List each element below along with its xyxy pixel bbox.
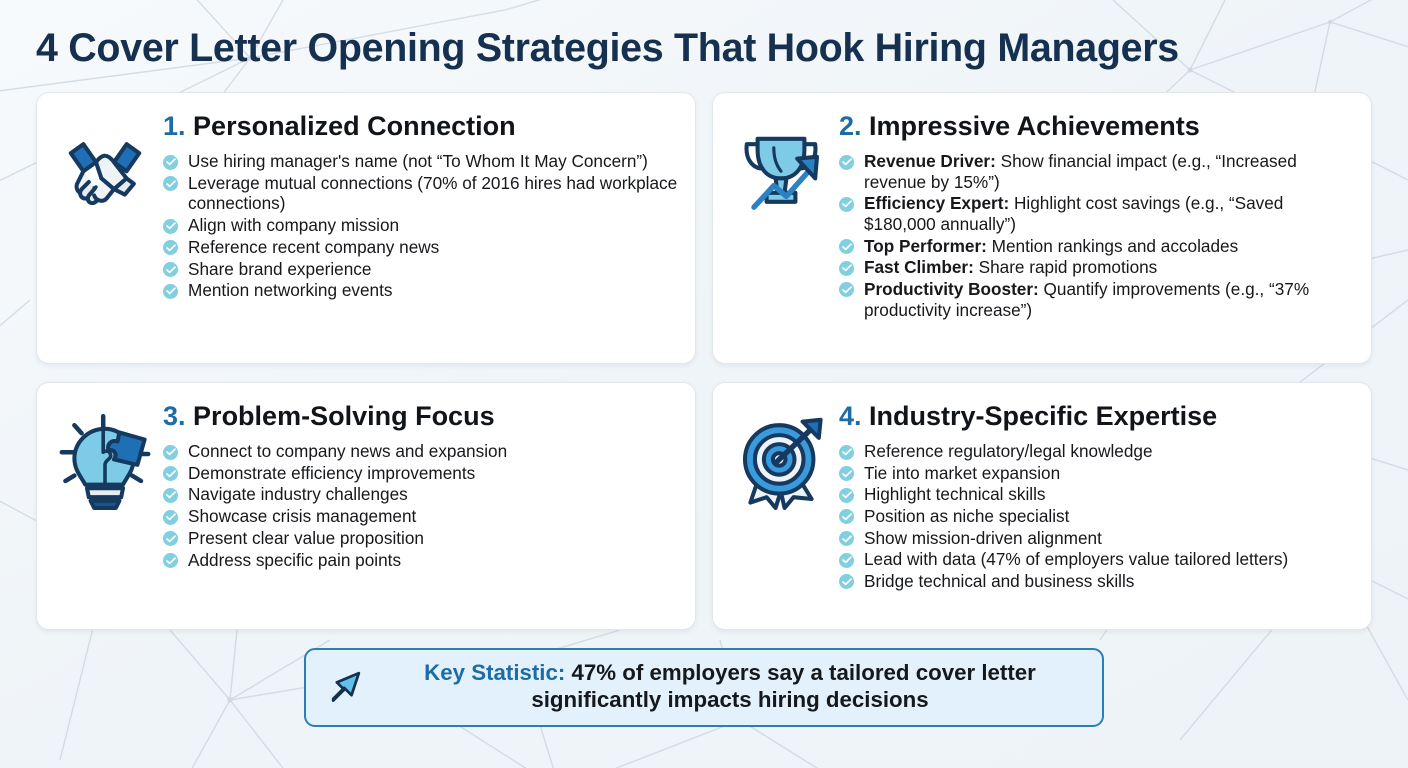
card-title: Problem-Solving Focus (193, 401, 495, 431)
check-icon (839, 197, 854, 212)
list-item-text: Present clear value proposition (188, 528, 424, 548)
check-icon (163, 176, 178, 191)
bullet-list: Reference regulatory/legal knowledge Tie… (839, 441, 1355, 591)
key-statistic-label: Key Statistic: (424, 660, 565, 685)
list-item: Position as niche specialist (839, 506, 1355, 527)
arrow-up-right-icon (324, 664, 368, 708)
list-item: Reference regulatory/legal knowledge (839, 441, 1355, 462)
card-heading: 4. Industry-Specific Expertise (839, 401, 1355, 432)
card-body: 1. Personalized Connection Use hiring ma… (163, 107, 679, 302)
list-item: Demonstrate efficiency improvements (163, 463, 679, 484)
check-icon (839, 261, 854, 276)
list-item: Efficiency Expert: Highlight cost saving… (839, 193, 1355, 234)
target-arrow-icon (727, 409, 835, 517)
list-item-text: Demonstrate efficiency improvements (188, 463, 475, 483)
check-icon (163, 466, 178, 481)
list-item: Top Performer: Mention rankings and acco… (839, 236, 1355, 257)
list-item-text: Address specific pain points (188, 550, 401, 570)
check-icon (163, 240, 178, 255)
list-item-text: Bridge technical and business skills (864, 571, 1134, 591)
check-icon (163, 155, 178, 170)
handshake-icon (51, 119, 159, 227)
list-item-label: Productivity Booster: (864, 279, 1039, 299)
list-item-text: Connect to company news and expansion (188, 441, 507, 461)
list-item-text: Share brand experience (188, 259, 371, 279)
check-icon (839, 466, 854, 481)
list-item: Use hiring manager's name (not “To Whom … (163, 151, 679, 172)
check-icon (163, 284, 178, 299)
card-number: 2. (839, 111, 862, 141)
check-icon (163, 553, 178, 568)
trophy-growth-icon (727, 119, 835, 227)
card-title: Industry-Specific Expertise (869, 401, 1217, 431)
card-body: 2. Impressive Achievements Revenue Drive… (839, 107, 1355, 321)
card-heading: 3. Problem-Solving Focus (163, 401, 679, 432)
card-heading: 2. Impressive Achievements (839, 111, 1355, 142)
list-item-text: Tie into market expansion (864, 463, 1060, 483)
list-item: Navigate industry challenges (163, 484, 679, 505)
list-item: Leverage mutual connections (70% of 2016… (163, 173, 679, 214)
list-item-text: Show mission-driven alignment (864, 528, 1102, 548)
strategy-card-3: 3. Problem-Solving Focus Connect to comp… (36, 382, 696, 630)
check-icon (839, 445, 854, 460)
check-icon (163, 219, 178, 234)
list-item: Connect to company news and expansion (163, 441, 679, 462)
list-item-text: Showcase crisis management (188, 506, 416, 526)
card-title: Personalized Connection (193, 111, 516, 141)
list-item: Mention networking events (163, 280, 679, 301)
list-item: Present clear value proposition (163, 528, 679, 549)
check-icon (839, 155, 854, 170)
list-item-label: Efficiency Expert: (864, 193, 1009, 213)
check-icon (839, 553, 854, 568)
list-item: Show mission-driven alignment (839, 528, 1355, 549)
list-item: Showcase crisis management (163, 506, 679, 527)
check-icon (839, 282, 854, 297)
check-icon (839, 531, 854, 546)
card-heading: 1. Personalized Connection (163, 111, 679, 142)
card-title: Impressive Achievements (869, 111, 1200, 141)
list-item-text: Use hiring manager's name (not “To Whom … (188, 151, 648, 171)
list-item-text: Mention rankings and accolades (992, 236, 1239, 256)
list-item: Highlight technical skills (839, 484, 1355, 505)
key-statistic-banner: Key Statistic: 47% of employers say a ta… (304, 648, 1104, 727)
check-icon (163, 531, 178, 546)
check-icon (839, 574, 854, 589)
check-icon (839, 239, 854, 254)
list-item-text: Mention networking events (188, 280, 392, 300)
list-item-text: Position as niche specialist (864, 506, 1069, 526)
strategy-card-4: 4. Industry-Specific Expertise Reference… (712, 382, 1372, 630)
list-item-label: Top Performer: (864, 236, 987, 256)
list-item-text: Reference regulatory/legal knowledge (864, 441, 1153, 461)
list-item-text: Share rapid promotions (979, 257, 1158, 277)
card-body: 3. Problem-Solving Focus Connect to comp… (163, 397, 679, 571)
strategy-cards-grid: 1. Personalized Connection Use hiring ma… (36, 92, 1372, 630)
list-item: Tie into market expansion (839, 463, 1355, 484)
key-statistic-text: Key Statistic: 47% of employers say a ta… (382, 659, 1079, 714)
card-number: 4. (839, 401, 862, 431)
bullet-list: Connect to company news and expansion De… (163, 441, 679, 570)
check-icon (163, 510, 178, 525)
list-item: Align with company mission (163, 215, 679, 236)
list-item: Revenue Driver: Show financial impact (e… (839, 151, 1355, 192)
list-item: Lead with data (47% of employers value t… (839, 549, 1355, 570)
list-item: Reference recent company news (163, 237, 679, 258)
list-item-text: Reference recent company news (188, 237, 439, 257)
strategy-card-1: 1. Personalized Connection Use hiring ma… (36, 92, 696, 364)
list-item: Bridge technical and business skills (839, 571, 1355, 592)
list-item-label: Fast Climber: (864, 257, 974, 277)
list-item-text: Highlight technical skills (864, 484, 1046, 504)
list-item-text: Leverage mutual connections (70% of 2016… (188, 173, 677, 214)
card-number: 1. (163, 111, 186, 141)
card-body: 4. Industry-Specific Expertise Reference… (839, 397, 1355, 593)
lightbulb-puzzle-icon (51, 409, 159, 517)
key-statistic-value: 47% of employers say a tailored cover le… (531, 660, 1035, 712)
check-icon (839, 509, 854, 524)
list-item-text: Lead with data (47% of employers value t… (864, 549, 1288, 569)
check-icon (839, 488, 854, 503)
list-item-text: Navigate industry challenges (188, 484, 408, 504)
bullet-list: Use hiring manager's name (not “To Whom … (163, 151, 679, 301)
list-item-text: Align with company mission (188, 215, 399, 235)
page-title: 4 Cover Letter Opening Strategies That H… (36, 26, 1352, 70)
infographic-root: 4 Cover Letter Opening Strategies That H… (0, 0, 1408, 768)
list-item-label: Revenue Driver: (864, 151, 996, 171)
list-item: Address specific pain points (163, 550, 679, 571)
card-number: 3. (163, 401, 186, 431)
check-icon (163, 262, 178, 277)
strategy-card-2: 2. Impressive Achievements Revenue Drive… (712, 92, 1372, 364)
list-item: Productivity Booster: Quantify improveme… (839, 279, 1355, 320)
check-icon (163, 445, 178, 460)
bullet-list: Revenue Driver: Show financial impact (e… (839, 151, 1355, 320)
list-item: Share brand experience (163, 259, 679, 280)
check-icon (163, 488, 178, 503)
key-statistic-wrap: Key Statistic: 47% of employers say a ta… (36, 648, 1372, 727)
list-item: Fast Climber: Share rapid promotions (839, 257, 1355, 278)
